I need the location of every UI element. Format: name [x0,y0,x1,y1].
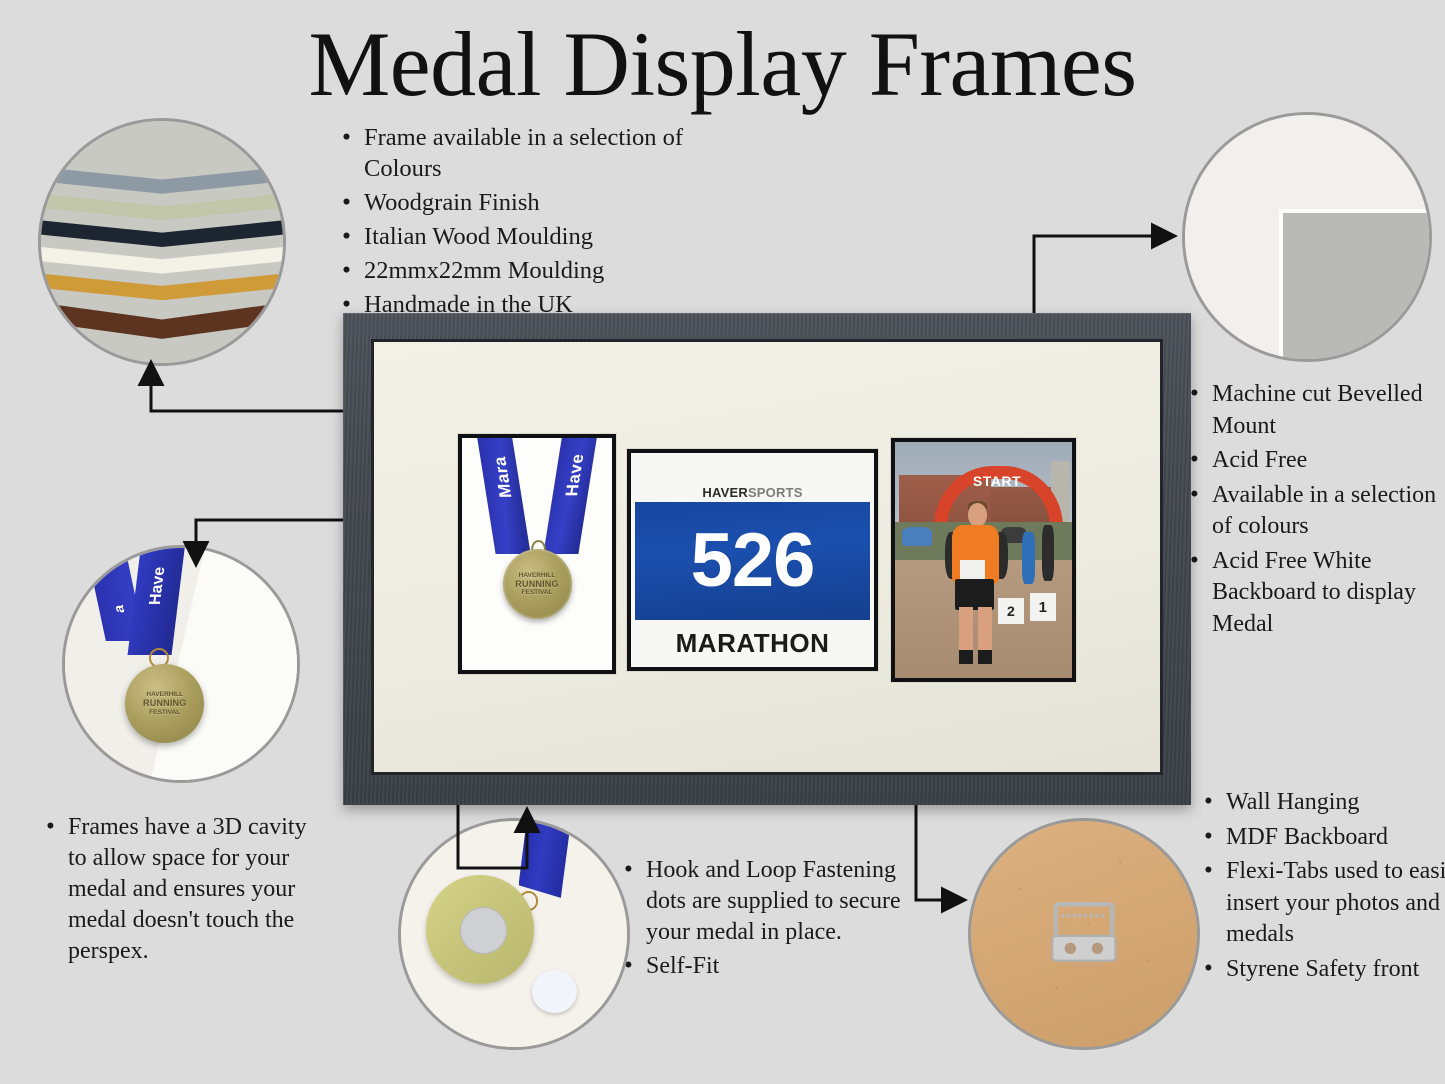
bevelled-mount-inset [1182,112,1432,362]
photo-aperture: START 2 1 [891,438,1076,682]
list-item: Wall Hanging [1226,787,1445,819]
frame-mount: Mara Have HAVERHILL RUNNING FESTIVAL [374,342,1160,772]
start-arch-label: START [973,473,1021,489]
frame-features-list: Frame available in a selection of Colour… [338,122,694,323]
photo-aperture-inside: START 2 1 [895,442,1072,678]
hook-dot-loose [532,970,577,1013]
list-item: Frame available in a selection of Colour… [364,122,694,184]
runner-photo: START 2 1 [895,442,1072,678]
race-bib-aperture-inside: HAVERSPORTS 526 MARATHON [631,453,874,667]
colour-chevron-stack [41,121,283,363]
ribbon-right-strap: Have [544,438,598,554]
wall-hanger-icon [1050,902,1118,965]
medal-engraving: HAVERHILL RUNNING FESTIVAL [515,572,558,597]
runner-shoe-right [978,650,992,664]
runner-shoe-left [959,650,973,664]
bib-brand-first: HAVER [702,485,748,500]
hook-and-loop-inset [398,818,630,1050]
ribbon-left-text: Mara [489,457,516,499]
cavity-features-list: Frames have a 3D cavity to allow space f… [42,812,328,970]
medal-disc: HAVERHILL RUNNING FESTIVAL [503,549,572,619]
list-item: Styrene Safety front [1226,954,1445,986]
bib-brand: HAVERSPORTS [702,485,802,500]
podium-block-1: 1 [1030,593,1057,621]
bib-logo: HAVERSPORTS [631,453,874,502]
cavity-medal-disc: HAVERHILL RUNNING FESTIVAL [125,664,204,743]
list-item: Flexi-Tabs used to easily insert your ph… [1226,856,1445,951]
list-item: 22mmx22mm Moulding [364,255,694,286]
medal-display-frame: Mara Have HAVERHILL RUNNING FESTIVAL [343,313,1191,805]
list-item: Self-Fit [646,951,906,982]
bib-brand-second: SPORTS [748,485,803,500]
ribbon-right-text: Have [562,454,589,497]
list-item: Frames have a 3D cavity to allow space f… [68,812,328,967]
poster-canvas: Medal Display Frames Frame available in … [0,0,1445,1084]
list-item: Acid Free White Backboard to display Med… [1212,546,1445,641]
runner-shorts [955,579,994,610]
medal-line-1: HAVERHILL [515,572,558,579]
frame-colours-inset [38,118,286,366]
arrow-frame-to-colours [151,365,358,411]
backboard-surface [1283,213,1432,362]
page-title: Medal Display Frames [0,16,1445,113]
medal-line-1: HAVERHILL [143,691,186,698]
podium-block-2: 2 [998,598,1025,624]
cavity-medal-engraving: HAVERHILL RUNNING FESTIVAL [143,691,186,716]
bib-number-band: 526 [635,502,870,620]
bib-event-name: MARATHON [631,620,874,667]
list-item: Woodgrain Finish [364,187,694,218]
medal-aperture: Mara Have HAVERHILL RUNNING FESTIVAL [458,434,616,674]
list-item: Machine cut Bevelled Mount [1212,379,1445,442]
medal-ribbon: Mara Have [486,438,588,554]
mdf-backboard-inset [968,818,1200,1050]
mount-features-list: Machine cut Bevelled Mount Acid Free Ava… [1186,379,1445,643]
race-bib: HAVERSPORTS 526 MARATHON [631,453,874,667]
bib-number: 526 [691,527,815,595]
backboard-features-list: Wall Hanging MDF Backboard Flexi-Tabs us… [1200,787,1445,988]
medal-line-2: RUNNING [143,698,186,708]
race-bib-aperture: HAVERSPORTS 526 MARATHON [627,449,878,671]
cavity-inset: a Have HAVERHILL RUNNING FESTIVAL [62,545,300,783]
photo-car-left [902,527,932,546]
runner-head [968,503,987,527]
medal-aperture-inside: Mara Have HAVERHILL RUNNING FESTIVAL [462,438,612,670]
photo-bystander-1 [1022,532,1034,584]
list-item: MDF Backboard [1226,822,1445,854]
list-item: Acid Free [1212,445,1445,477]
colour-swatch-grey [38,160,286,194]
fastening-features-list: Hook and Loop Fastening dots are supplie… [620,855,906,985]
list-item: Italian Wood Moulding [364,221,694,252]
medal-line-2: RUNNING [515,579,558,589]
photo-bystander-2 [1042,525,1054,582]
list-item: Available in a selection of colours [1212,480,1445,543]
list-item: Hook and Loop Fastening dots are supplie… [646,855,906,948]
ribbon-left-strap: Mara [476,438,530,554]
medal-line-3: FESTIVAL [143,709,186,716]
medal-line-3: FESTIVAL [515,589,558,596]
